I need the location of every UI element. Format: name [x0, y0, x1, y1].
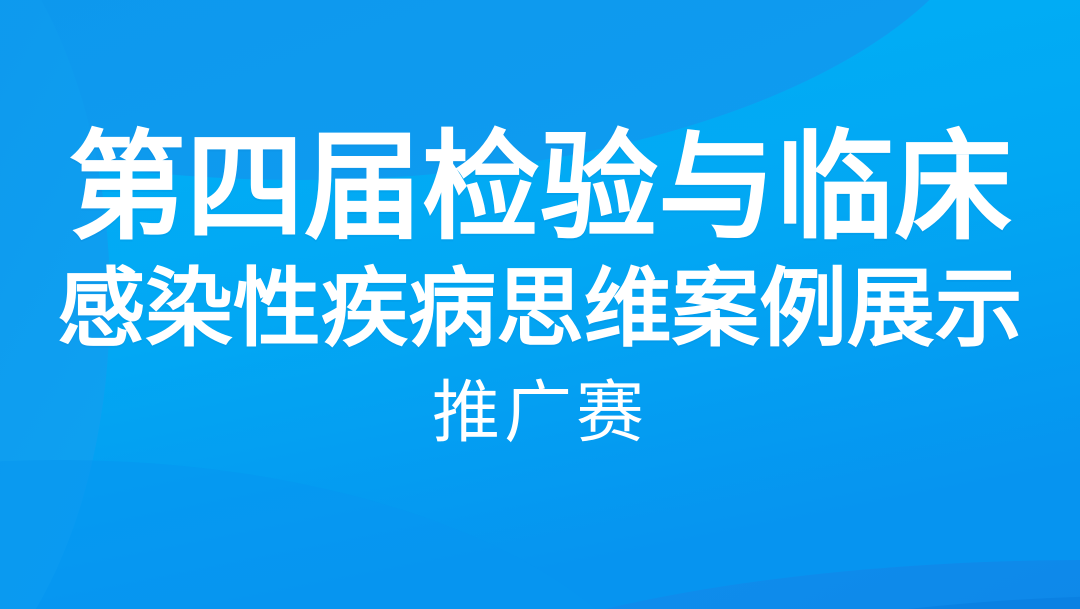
- title-line-tertiary: 推广赛: [432, 380, 648, 448]
- poster-title-block: 第四届检验与临床 感染性疾病思维案例展示 推广赛: [0, 0, 1080, 609]
- title-line-secondary: 感染性疾病思维案例展示: [58, 266, 1023, 352]
- promo-banner: 第四届检验与临床 感染性疾病思维案例展示 推广赛: [0, 0, 1080, 609]
- title-line-primary: 第四届检验与临床: [68, 128, 1012, 246]
